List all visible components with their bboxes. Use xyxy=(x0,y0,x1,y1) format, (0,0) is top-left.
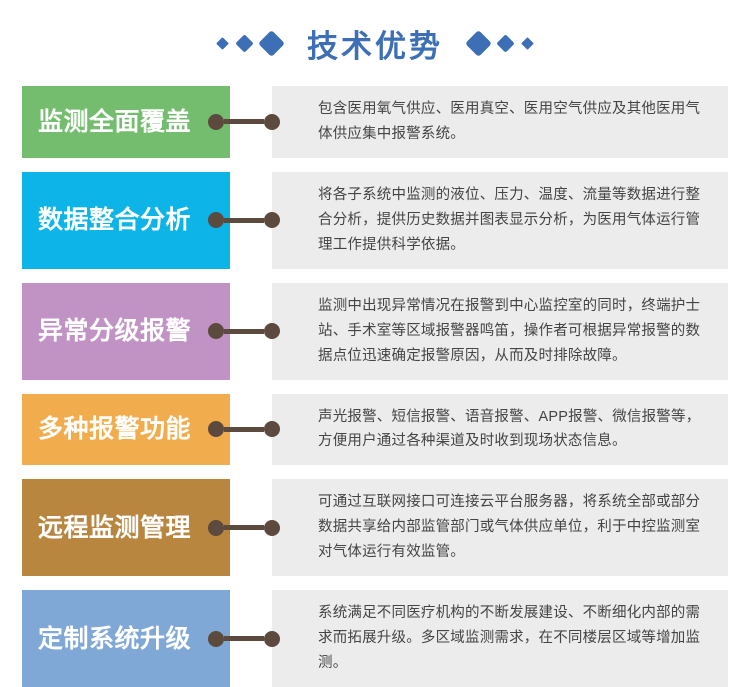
page-title-bar: 技术优势 xyxy=(0,0,750,86)
diamond-icon-medium-right xyxy=(496,34,514,52)
advantage-label: 异常分级报警 xyxy=(38,316,191,346)
advantage-description: 系统满足不同医疗机构的不断发展建设、不断细化内部的需求而拓展升级。多区域监测需求… xyxy=(318,601,710,676)
diamond-icon-medium-left xyxy=(235,34,253,52)
diamond-icon-large-left xyxy=(258,30,285,57)
advantage-label-box: 监测全面覆盖 xyxy=(22,86,230,158)
advantage-label: 远程监测管理 xyxy=(38,513,191,543)
advantage-description-box: 可通过互联网接口可连接云平台服务器，将系统全部或部分数据共享给内部监管部门或气体… xyxy=(272,479,728,576)
advantage-label: 定制系统升级 xyxy=(38,624,191,654)
advantage-row: 定制系统升级 系统满足不同医疗机构的不断发展建设、不断细化内部的需求而拓展升级。… xyxy=(22,590,728,687)
advantage-rows: 监测全面覆盖 包含医用氧气供应、医用真空、医用空气供应及其他医用气体供应集中报警… xyxy=(0,86,750,687)
connector-bar xyxy=(224,119,264,124)
connector-bar xyxy=(224,329,264,334)
advantage-description-box: 将各子系统中监测的液位、压力、温度、流量等数据进行整合分析，提供历史数据并图表显… xyxy=(272,172,728,269)
advantage-label-box: 定制系统升级 xyxy=(22,590,230,687)
advantage-label: 数据整合分析 xyxy=(38,205,191,235)
advantage-description: 将各子系统中监测的液位、压力、温度、流量等数据进行整合分析，提供历史数据并图表显… xyxy=(318,183,710,258)
advantage-description: 声光报警、短信报警、语音报警、APP报警、微信报警等，方便用户通过各种渠道及时收… xyxy=(318,405,710,455)
advantage-label-box: 多种报警功能 xyxy=(22,394,230,466)
advantage-label-box: 远程监测管理 xyxy=(22,479,230,576)
advantage-description: 可通过互联网接口可连接云平台服务器，将系统全部或部分数据共享给内部监管部门或气体… xyxy=(318,490,710,565)
diamond-icon-large-right xyxy=(465,30,492,57)
advantage-description-box: 声光报警、短信报警、语音报警、APP报警、微信报警等，方便用户通过各种渠道及时收… xyxy=(272,394,728,466)
connector-bar xyxy=(224,427,264,432)
advantage-description: 监测中出现异常情况在报警到中心监控室的同时，终端护士站、手术室等区域报警器鸣笛，… xyxy=(318,294,710,369)
advantage-row: 监测全面覆盖 包含医用氧气供应、医用真空、医用空气供应及其他医用气体供应集中报警… xyxy=(22,86,728,158)
left-diamond-decoration xyxy=(218,34,281,53)
diamond-icon-small-right xyxy=(521,37,534,50)
advantage-row: 数据整合分析 将各子系统中监测的液位、压力、温度、流量等数据进行整合分析，提供历… xyxy=(22,172,728,269)
advantage-description: 包含医用氧气供应、医用真空、医用空气供应及其他医用气体供应集中报警系统。 xyxy=(318,97,710,147)
connector-bar xyxy=(224,525,264,530)
advantage-label-box: 数据整合分析 xyxy=(22,172,230,269)
advantage-row: 多种报警功能 声光报警、短信报警、语音报警、APP报警、微信报警等，方便用户通过… xyxy=(22,394,728,466)
advantage-description-box: 监测中出现异常情况在报警到中心监控室的同时，终端护士站、手术室等区域报警器鸣笛，… xyxy=(272,283,728,380)
connector-bar xyxy=(224,218,264,223)
advantage-label: 多种报警功能 xyxy=(38,414,191,444)
advantage-description-box: 系统满足不同医疗机构的不断发展建设、不断细化内部的需求而拓展升级。多区域监测需求… xyxy=(272,590,728,687)
right-diamond-decoration xyxy=(469,34,532,53)
page-title: 技术优势 xyxy=(307,21,443,66)
advantage-label: 监测全面覆盖 xyxy=(38,107,191,137)
advantage-row: 异常分级报警 监测中出现异常情况在报警到中心监控室的同时，终端护士站、手术室等区… xyxy=(22,283,728,380)
advantage-row: 远程监测管理 可通过互联网接口可连接云平台服务器，将系统全部或部分数据共享给内部… xyxy=(22,479,728,576)
advantage-label-box: 异常分级报警 xyxy=(22,283,230,380)
advantage-description-box: 包含医用氧气供应、医用真空、医用空气供应及其他医用气体供应集中报警系统。 xyxy=(272,86,728,158)
advantages-infographic: 技术优势 监测全面覆盖 包含医用氧气供应、医用真空、医用空气供应及其他医用气体供… xyxy=(0,0,750,615)
diamond-icon-small-left xyxy=(216,37,229,50)
connector-bar xyxy=(224,636,264,641)
